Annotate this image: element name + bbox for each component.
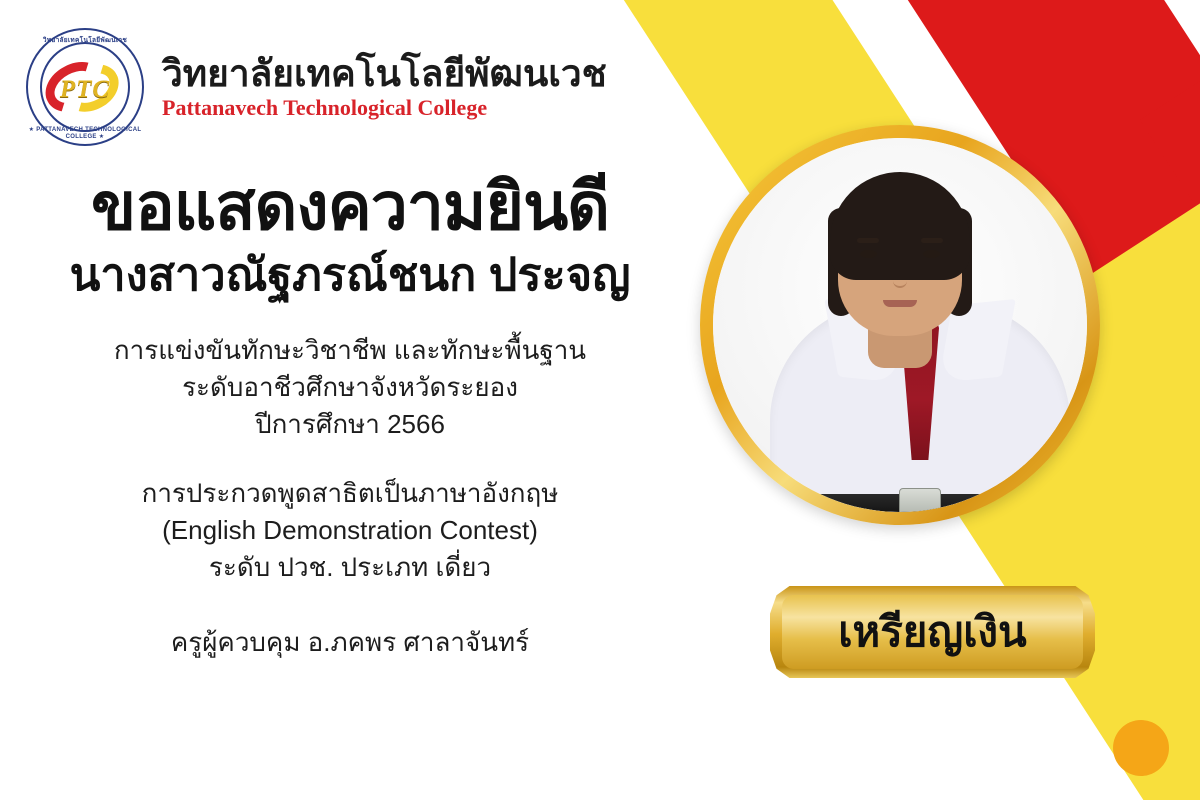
contest-details: การประกวดพูดสาธิตเป็นภาษาอังกฤษ (English…	[0, 475, 700, 586]
photo-eye-left	[860, 250, 877, 258]
college-name-thai: วิทยาลัยเทคโนโลยีพัฒนเวช	[162, 55, 607, 94]
contest-line-2: (English Demonstration Contest)	[0, 512, 700, 549]
contest-line-3: ระดับ ปวช. ประเภท เดี่ยว	[0, 549, 700, 586]
page-title: ขอแสดงความยินดี	[0, 170, 700, 243]
award-badge-label: เหรียญเงิน	[838, 611, 1027, 653]
poster-content: ขอแสดงความยินดี นางสาวณัฐภรณ์ชนก ประจญ ก…	[0, 170, 700, 663]
advisor-line: ครูผู้ควบคุม อ.ภคพร ศาลาจันทร์	[0, 622, 700, 663]
contest-line-1: การประกวดพูดสาธิตเป็นภาษาอังกฤษ	[0, 475, 700, 512]
logo-arc-top-text: วิทยาลัยเทคโนโลยีพัฒนเวช	[24, 35, 146, 45]
photo-hair-top	[830, 172, 970, 280]
competition-details: การแข่งขันทักษะวิชาชีพ และทักษะพื้นฐาน ร…	[0, 332, 700, 443]
portrait-frame	[700, 125, 1100, 525]
award-badge-inner: เหรียญเงิน	[782, 595, 1083, 669]
photo-eyebrow-right	[921, 238, 943, 243]
award-badge: เหรียญเงิน	[770, 586, 1095, 678]
logo-monogram: PTC	[24, 76, 146, 104]
student-photo	[713, 138, 1087, 512]
logo-arc-bottom-text: ★ PATTANAVECH TECHNOLOGICAL COLLEGE ★	[24, 126, 146, 140]
photo-eye-right	[923, 250, 940, 258]
competition-line-1: การแข่งขันทักษะวิชาชีพ และทักษะพื้นฐาน	[0, 332, 700, 369]
competition-line-3: ปีการศึกษา 2566	[0, 406, 700, 443]
photo-eyebrow-left	[857, 238, 879, 243]
college-name-english: Pattanavech Technological College	[162, 96, 607, 119]
photo-belt-buckle	[899, 488, 941, 512]
college-name-block: วิทยาลัยเทคโนโลยีพัฒนเวช Pattanavech Tec…	[162, 55, 607, 120]
photo-mouth	[883, 300, 917, 307]
accent-dot-decoration	[1113, 720, 1169, 776]
photo-nose	[893, 266, 907, 288]
ptc-logo-icon: วิทยาลัยเทคโนโลยีพัฒนเวช PTC ★ PATTANAVE…	[24, 26, 146, 148]
congratulations-poster: วิทยาลัยเทคโนโลยีพัฒนเวช PTC ★ PATTANAVE…	[0, 0, 1200, 800]
portrait-inner-circle	[713, 138, 1087, 512]
awardee-name: นางสาวณัฐภรณ์ชนก ประจญ	[0, 249, 700, 301]
competition-line-2: ระดับอาชีวศึกษาจังหวัดระยอง	[0, 369, 700, 406]
poster-header: วิทยาลัยเทคโนโลยีพัฒนเวช PTC ★ PATTANAVE…	[24, 26, 607, 148]
